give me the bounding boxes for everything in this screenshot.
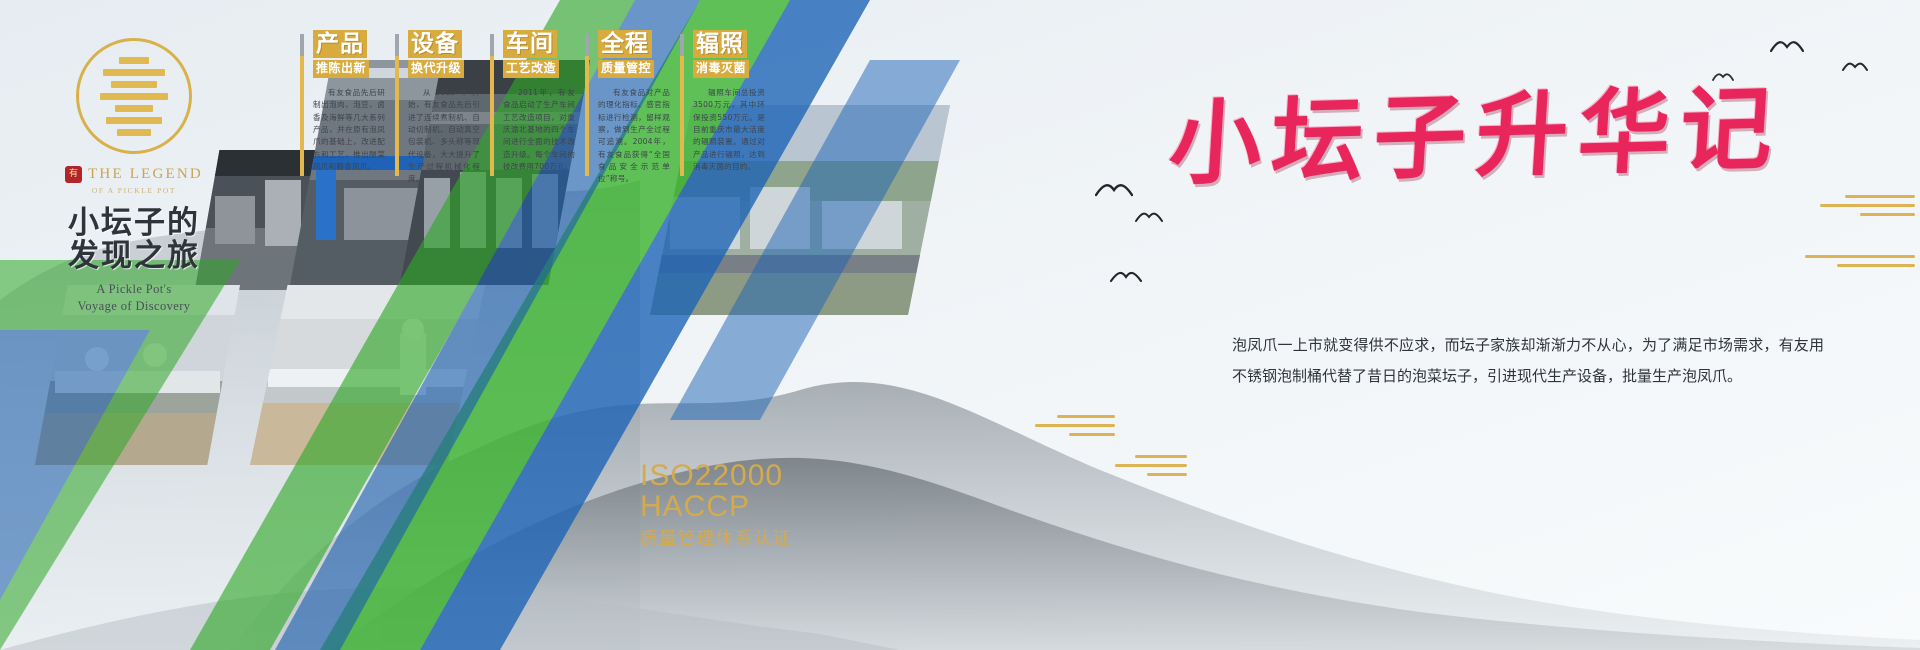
poster-canvas: 有 THE LEGEND OF A PICKLE POT 小坛子的 发现之旅 A…: [0, 0, 1920, 650]
brand-title-cn: 小坛子的 发现之旅: [34, 207, 234, 273]
card-rail: [300, 34, 304, 176]
certification-badge: ISO22000 HACCP 质量管理体系认证: [640, 460, 792, 549]
gold-cloud-ornament: [1820, 195, 1915, 222]
bird-icon: [1110, 268, 1142, 290]
card-heading: 辐照: [693, 30, 747, 58]
card-body: 从2010年开始，有友食品先后引进了连续煮制机、自动切制机、自动真空包装机、多头…: [408, 87, 480, 185]
hero-title: 小坛子升华记: [1167, 82, 1786, 190]
card-rail: [490, 34, 494, 176]
gold-cloud-ornament: [1805, 255, 1915, 273]
brand-title-en-line2: Voyage of Discovery: [34, 298, 234, 315]
card-subheading: 质量管控: [598, 60, 654, 78]
brand-title-cn-line2: 发现之旅: [34, 240, 234, 273]
gold-cloud-ornament: [1035, 415, 1115, 442]
card-subheading: 消毒灭菌: [693, 60, 749, 78]
certification-line-iso: ISO22000: [640, 460, 792, 491]
red-seal-icon: 有: [65, 166, 82, 183]
card-subheading: 推陈出新: [313, 60, 369, 78]
gold-cloud-ornament: [1115, 455, 1187, 482]
bird-icon: [1842, 60, 1868, 79]
card-heading: 车间: [503, 30, 557, 58]
brand-title-en: A Pickle Pot's Voyage of Discovery: [34, 281, 234, 315]
hero-paragraph: 泡凤爪一上市就变得供不应求，而坛子家族却渐渐力不从心，为了满足市场需求，有友用不…: [1232, 330, 1824, 392]
brand-title-cn-line1: 小坛子的: [34, 207, 234, 240]
card-rail: [585, 34, 589, 176]
brand-block: 有 THE LEGEND OF A PICKLE POT 小坛子的 发现之旅 A…: [34, 38, 234, 314]
card-subheading: 换代升级: [408, 60, 464, 78]
legend-en-text: THE LEGEND: [88, 166, 203, 183]
card-rail: [395, 34, 399, 176]
timeline-card: 辐照 消毒灭菌 辐照车间总投资3500万元，其中环保投资550万元。是目前重庆市…: [680, 30, 765, 186]
timeline-card: 产品 推陈出新 有友食品先后研制出泡肉、泡豆、卤香及海鲜等几大系列产品，并在原有…: [300, 30, 385, 186]
photo-packing-hall: [250, 285, 485, 465]
card-body: 2011年，有友食品启动了生产车间工艺改造项目，对重庆渝北基地的四个车间进行全面…: [503, 87, 575, 173]
pickle-pot-seal-icon: [76, 38, 192, 154]
card-subheading: 工艺改造: [503, 60, 559, 78]
card-body: 辐照车间总投资3500万元，其中环保投资550万元。是目前重庆市最大活度的辐照装…: [693, 87, 765, 173]
timeline-card-list: 产品 推陈出新 有友食品先后研制出泡肉、泡豆、卤香及海鲜等几大系列产品，并在原有…: [300, 30, 765, 186]
timeline-card: 全程 质量管控 有友食品对产品的理化指标、感官指标进行检测，留样观察，做到生产全…: [585, 30, 670, 186]
timeline-card: 设备 换代升级 从2010年开始，有友食品先后引进了连续煮制机、自动切制机、自动…: [395, 30, 480, 186]
legend-sub-text: OF A PICKLE POT: [34, 186, 234, 195]
certification-line-haccp: HACCP: [640, 491, 792, 522]
card-heading: 全程: [598, 30, 652, 58]
bird-icon: [1770, 38, 1804, 61]
card-heading: 产品: [313, 30, 367, 58]
card-body: 有友食品先后研制出泡肉、泡豆、卤香及海鲜等几大系列产品，并在原有泡凤爪的基础上，…: [313, 87, 385, 173]
bird-icon: [1095, 180, 1133, 205]
card-heading: 设备: [408, 30, 462, 58]
card-body: 有友食品对产品的理化指标、感官指标进行检测，留样观察，做到生产全过程可追溯。20…: [598, 87, 670, 185]
card-rail: [680, 34, 684, 176]
brand-title-en-line1: A Pickle Pot's: [34, 281, 234, 298]
certification-line-cn: 质量管理体系认证: [640, 524, 792, 549]
timeline-card: 车间 工艺改造 2011年，有友食品启动了生产车间工艺改造项目，对重庆渝北基地的…: [490, 30, 575, 186]
bird-icon: [1135, 210, 1163, 230]
legend-lockup: 有 THE LEGEND: [34, 166, 234, 183]
